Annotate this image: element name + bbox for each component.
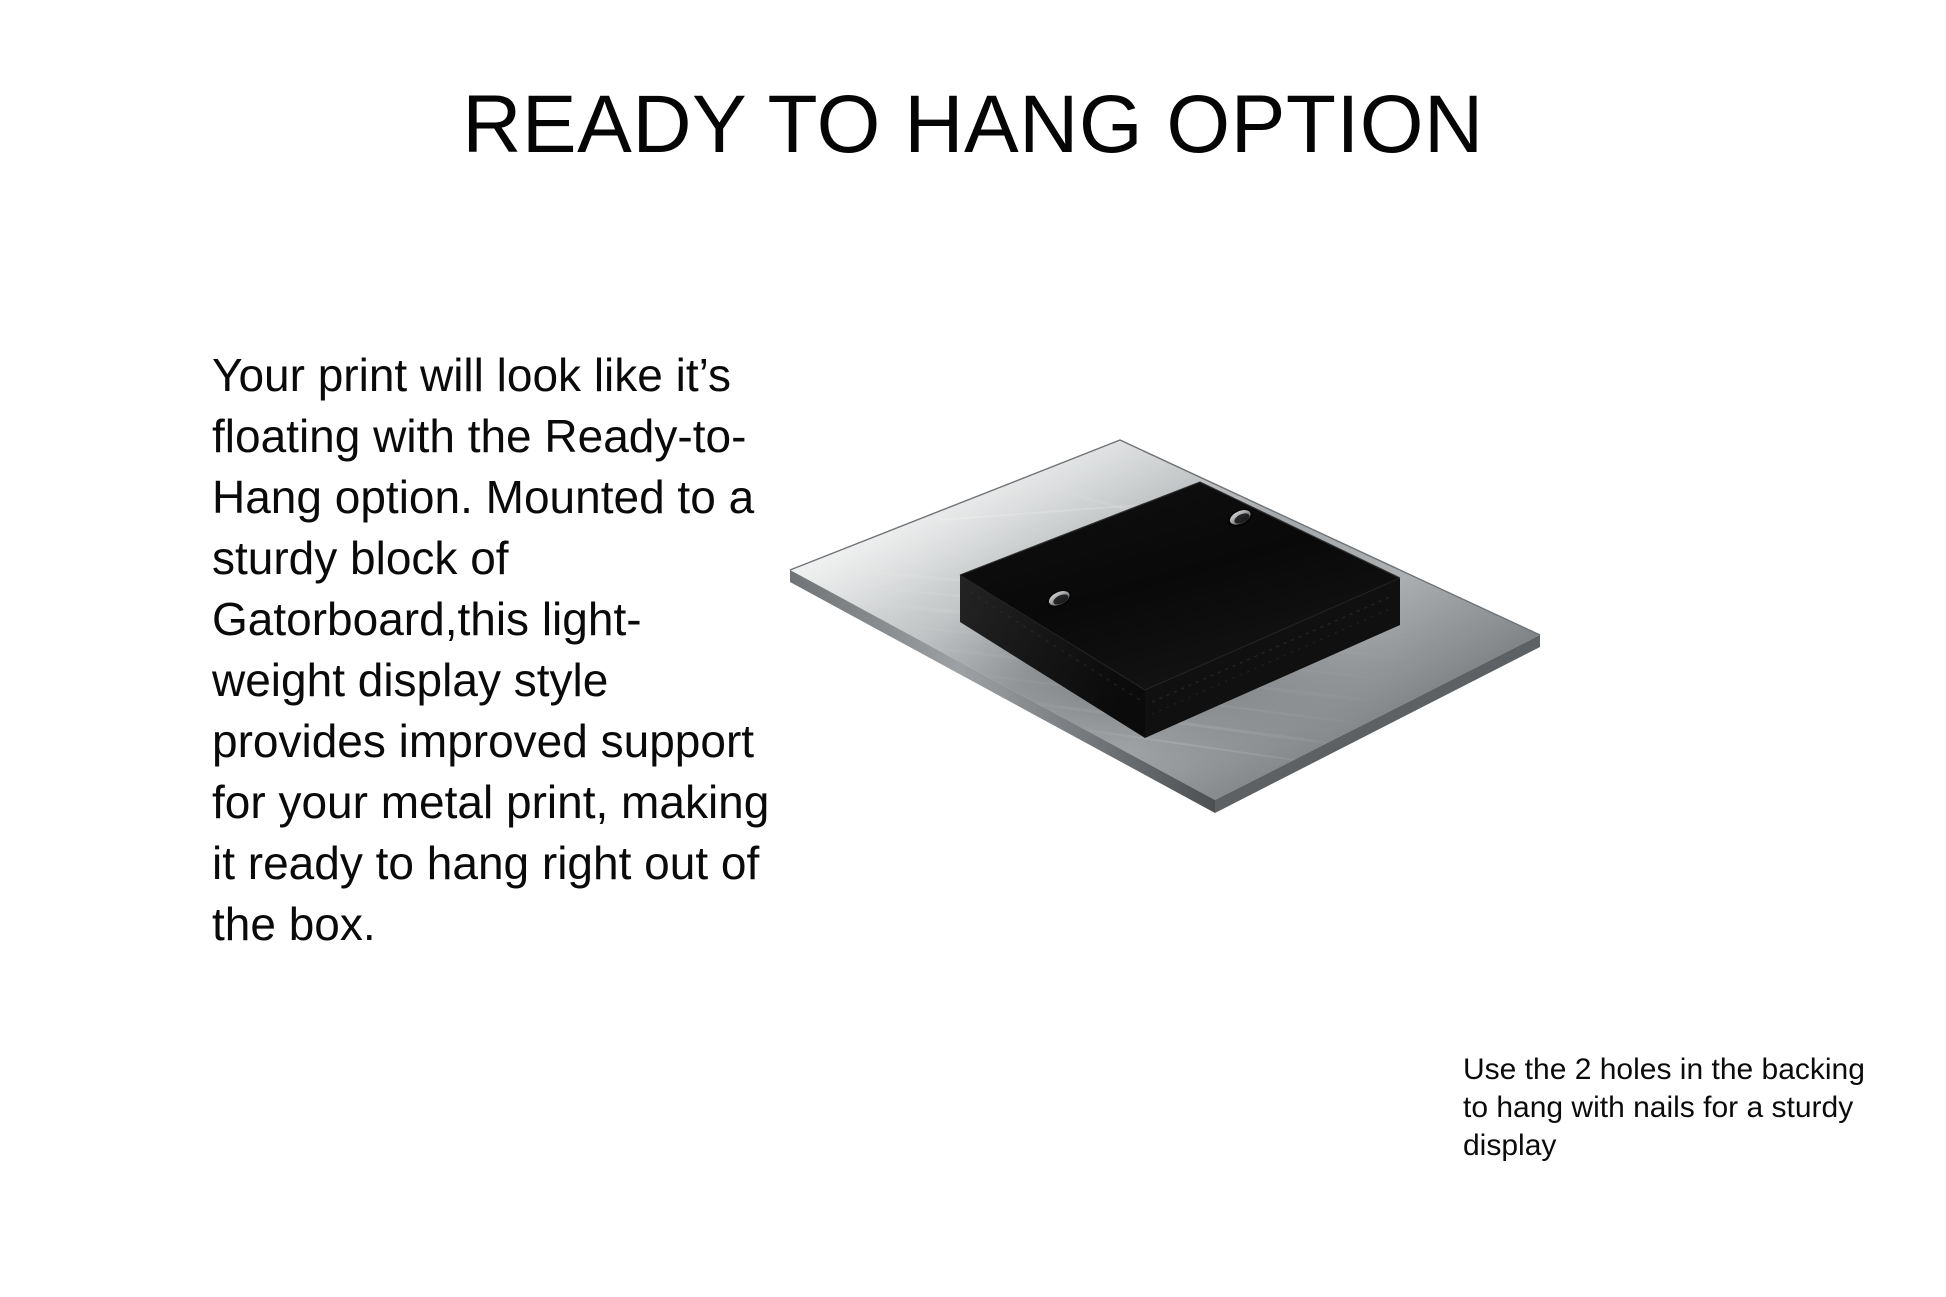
page-title: READY TO HANG OPTION [0,84,1946,166]
hanging-instructions-caption: Use the 2 holes in the backing to hang w… [1463,1051,1893,1165]
product-photo [660,380,1560,850]
